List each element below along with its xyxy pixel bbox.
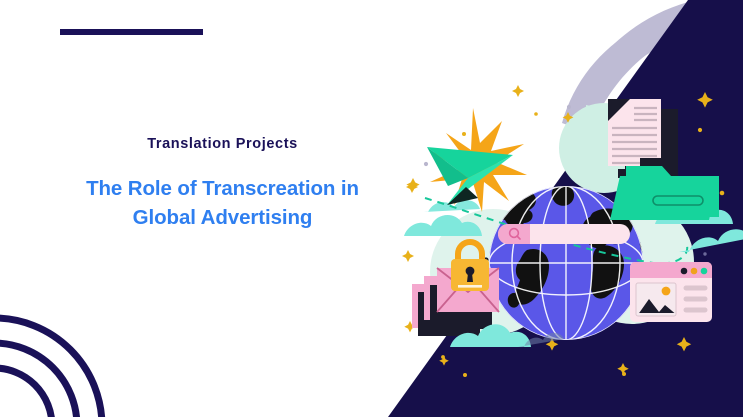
headline-line-2: Global Advertising: [133, 206, 313, 229]
page-title: The Role of Transcreation in Global Adve…: [40, 175, 405, 232]
search-bar-graphic[interactable]: [498, 224, 630, 244]
paper-plane-icon: [427, 147, 513, 205]
slide-canvas: Translation Projects The Role of Transcr…: [0, 0, 743, 417]
headline-line-1: The Role of Transcreation in: [86, 177, 359, 200]
eyebrow-label: Translation Projects: [40, 136, 405, 153]
title-rule: [60, 29, 203, 35]
text-block: Translation Projects The Role of Transcr…: [40, 136, 405, 232]
corner-arcs-decoration: [0, 318, 102, 417]
